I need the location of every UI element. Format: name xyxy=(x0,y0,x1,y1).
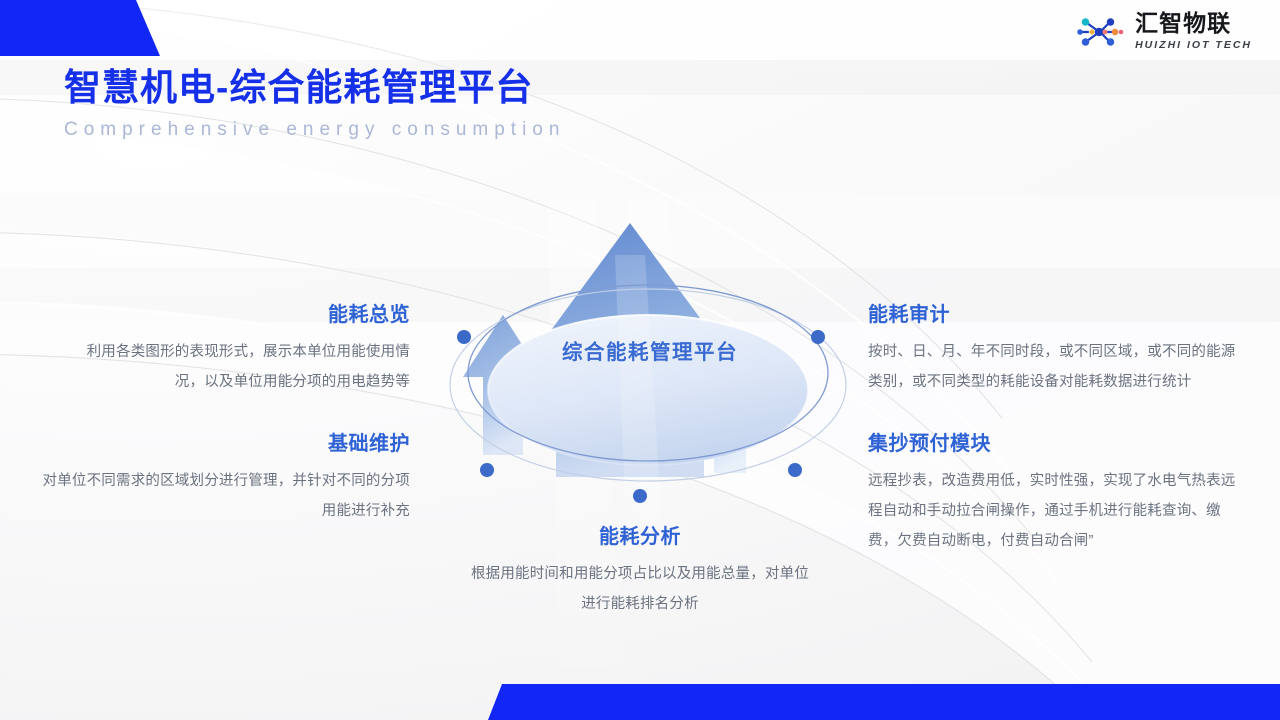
feature-body-audit: 按时、日、月、年不同时段，或不同区域，或不同的能源类别，或不同类型的耗能设备对能… xyxy=(868,337,1250,397)
orbit-node xyxy=(480,463,494,477)
feature-body-prepay: 远程抄表，改造费用低，实时性强，实现了水电气热表远程自动和手动拉合闸操作，通过手… xyxy=(868,466,1250,556)
feature-title-audit: 能耗审计 xyxy=(868,303,1250,327)
feature-title-maintenance: 基础维护 xyxy=(40,432,410,456)
molecule-icon xyxy=(1077,12,1127,52)
feature-title-prepay: 集抄预付模块 xyxy=(868,432,1250,456)
logo-name-en: HUIZHI IOT TECH xyxy=(1135,40,1252,51)
feature-block-analysis: 能耗分析 根据用能时间和用能分项占比以及用能总量，对单位进行能耗排名分析 xyxy=(470,525,810,619)
platform-illustration xyxy=(430,215,870,525)
feature-body-overview: 利用各类图形的表现形式，展示本单位用能使用情况，以及单位用能分项的用电趋势等 xyxy=(58,337,410,397)
slide-canvas: 智慧机电-综合能耗管理平台 Comprehensive energy consu… xyxy=(0,0,1280,720)
logo-name-cn: 汇智物联 xyxy=(1135,13,1252,36)
feature-block-prepay: 集抄预付模块 远程抄表，改造费用低，实时性强，实现了水电气热表远程自动和手动拉合… xyxy=(868,432,1250,556)
page-subtitle: Comprehensive energy consumption xyxy=(64,119,565,141)
brand-logo: 汇智物联 HUIZHI IOT TECH xyxy=(1077,12,1252,52)
center-platform-label: 综合能耗管理平台 xyxy=(430,335,870,365)
feature-block-maintenance: 基础维护 对单位不同需求的区域划分进行管理，并针对不同的分项用能进行补充 xyxy=(40,432,410,526)
feature-block-audit: 能耗审计 按时、日、月、年不同时段，或不同区域，或不同的能源类别，或不同类型的耗… xyxy=(868,303,1250,397)
page-title: 智慧机电-综合能耗管理平台 xyxy=(64,66,565,110)
orbit-node xyxy=(633,489,647,503)
feature-title-analysis: 能耗分析 xyxy=(470,525,810,549)
feature-body-maintenance: 对单位不同需求的区域划分进行管理，并针对不同的分项用能进行补充 xyxy=(40,466,410,526)
corner-accent-bottom-right xyxy=(460,684,1280,720)
feature-body-analysis: 根据用能时间和用能分项占比以及用能总量，对单位进行能耗排名分析 xyxy=(470,559,810,619)
page-header: 智慧机电-综合能耗管理平台 Comprehensive energy consu… xyxy=(64,66,565,141)
corner-accent-top-left xyxy=(0,0,180,60)
feature-title-overview: 能耗总览 xyxy=(58,303,410,327)
feature-block-overview: 能耗总览 利用各类图形的表现形式，展示本单位用能使用情况，以及单位用能分项的用电… xyxy=(58,303,410,397)
orbit-node xyxy=(788,463,802,477)
center-graphic: 综合能耗管理平台 xyxy=(430,215,870,525)
